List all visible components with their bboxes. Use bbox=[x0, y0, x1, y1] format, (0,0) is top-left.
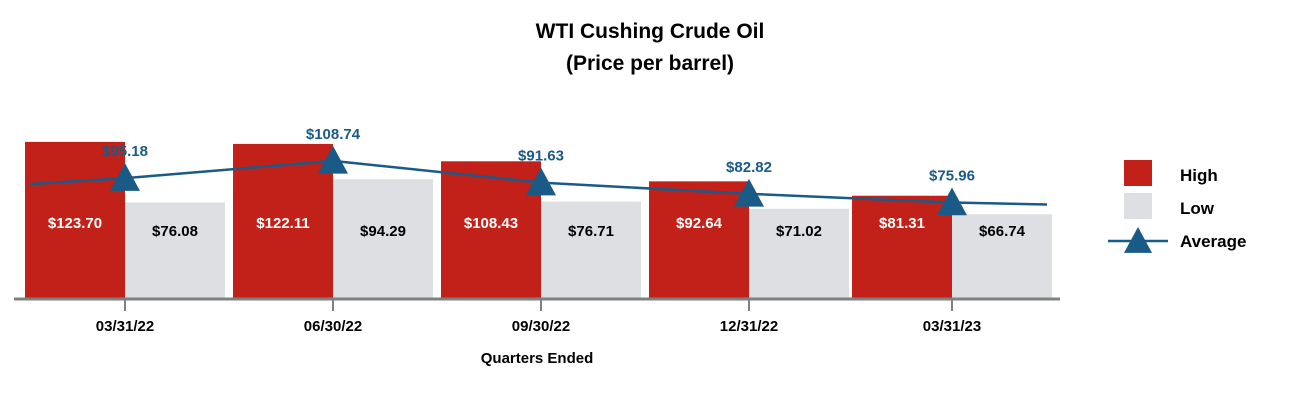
x-axis-tick-label: 03/31/23 bbox=[923, 318, 981, 335]
bar-label-low: $76.08 bbox=[152, 223, 198, 240]
x-axis-title: Quarters Ended bbox=[481, 350, 594, 367]
bar-label-low: $71.02 bbox=[776, 223, 822, 240]
bar-label-high: $92.64 bbox=[676, 215, 723, 232]
legend-item-label: Average bbox=[1180, 232, 1246, 251]
bar-label-high: $81.31 bbox=[879, 215, 925, 232]
wti-crude-oil-chart: WTI Cushing Crude Oil (Price per barrel)… bbox=[0, 0, 1300, 400]
legend-item-label: High bbox=[1180, 166, 1218, 185]
chart-legend: HighLowAverage bbox=[1108, 160, 1246, 253]
legend-item[interactable]: High bbox=[1124, 160, 1218, 186]
x-axis-tick-label: 12/31/22 bbox=[720, 318, 778, 335]
bar-low[interactable] bbox=[541, 202, 641, 299]
x-axis-tick-label: 06/30/22 bbox=[304, 318, 362, 335]
plot-area: $123.70$76.08$122.11$94.29$108.43$76.71$… bbox=[25, 126, 1052, 299]
bar-low[interactable] bbox=[125, 202, 225, 299]
legend-item-label: Low bbox=[1180, 199, 1215, 218]
legend-swatch-square bbox=[1124, 160, 1152, 186]
average-value-label: $95.18 bbox=[102, 143, 148, 160]
bar-label-low: $76.71 bbox=[568, 223, 614, 240]
average-value-label: $75.96 bbox=[929, 168, 975, 185]
bar-label-high: $122.11 bbox=[256, 215, 309, 232]
bar-label-high: $123.70 bbox=[48, 215, 102, 232]
average-value-label: $108.74 bbox=[306, 126, 361, 143]
bar-high[interactable] bbox=[852, 196, 952, 299]
bar-label-low: $66.74 bbox=[979, 223, 1026, 240]
legend-item[interactable]: Low bbox=[1124, 193, 1215, 219]
average-value-label: $82.82 bbox=[726, 159, 772, 176]
average-value-label: $91.63 bbox=[518, 148, 564, 165]
chart-container: WTI Cushing Crude Oil (Price per barrel)… bbox=[0, 0, 1300, 400]
x-axis-tick-label: 03/31/22 bbox=[96, 318, 154, 335]
bar-label-low: $94.29 bbox=[360, 223, 406, 240]
page-subtitle: (Price per barrel) bbox=[566, 52, 734, 75]
legend-item[interactable]: Average bbox=[1108, 227, 1246, 253]
legend-swatch-square bbox=[1124, 193, 1152, 219]
x-axis-tick-label: 09/30/22 bbox=[512, 318, 570, 335]
page-title: WTI Cushing Crude Oil bbox=[536, 20, 765, 43]
bar-high[interactable] bbox=[649, 181, 749, 299]
x-axis: 03/31/2206/30/2209/30/2212/31/2203/31/23 bbox=[96, 299, 981, 335]
bar-label-high: $108.43 bbox=[464, 215, 518, 232]
